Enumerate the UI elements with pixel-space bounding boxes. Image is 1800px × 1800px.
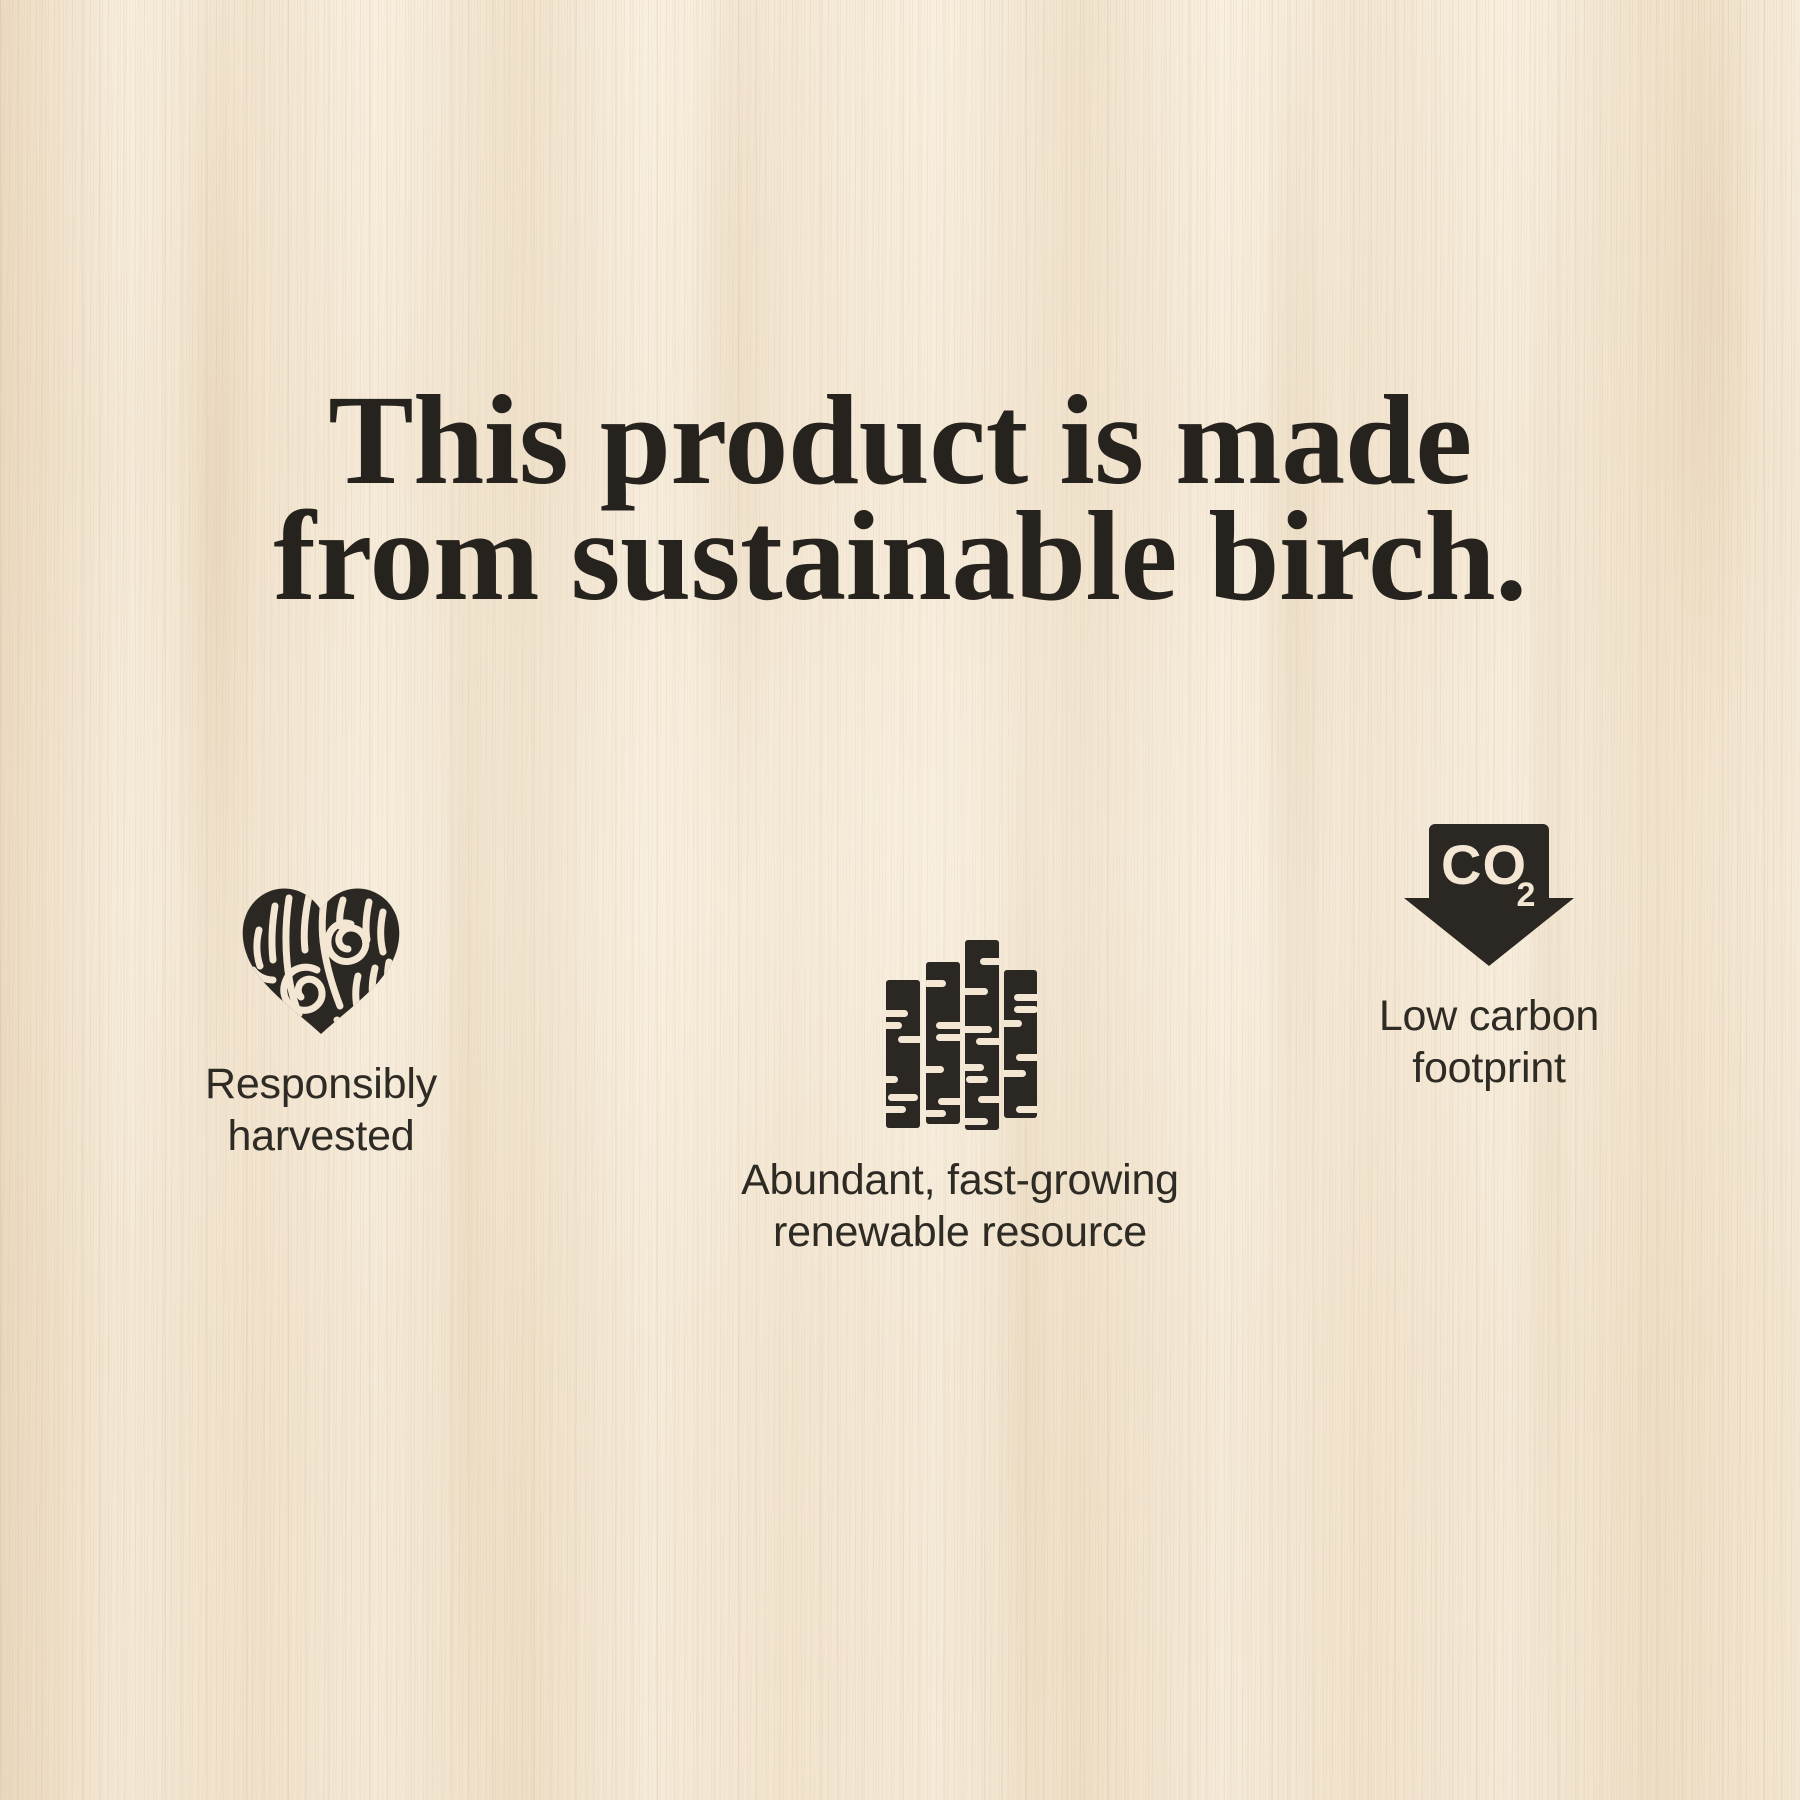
headline: This product is made from sustainable bi…	[0, 382, 1800, 614]
birch-product-panel: This product is made from sustainable bi…	[0, 0, 1800, 1800]
feature-caption: Low carbon footprint	[1254, 990, 1724, 1094]
feature-renewable-resource: Abundant, fast-growing renewable resourc…	[580, 936, 1340, 1258]
birch-trees-icon	[580, 936, 1340, 1132]
feature-row: Responsibly harvested	[60, 780, 1740, 1300]
headline-line-2: from sustainable birch.	[110, 498, 1690, 614]
feature-responsibly-harvested: Responsibly harvested	[86, 876, 556, 1162]
wood-grain-heart-icon	[86, 876, 556, 1036]
feature-low-carbon-footprint: CO 2 Low carbon footprint	[1254, 818, 1724, 1094]
feature-caption: Responsibly harvested	[86, 1058, 556, 1162]
feature-caption: Abundant, fast-growing renewable resourc…	[580, 1154, 1340, 1258]
co2-down-arrow-icon: CO 2	[1254, 818, 1724, 968]
co2-label: CO	[1441, 833, 1527, 896]
panel-content: This product is made from sustainable bi…	[0, 0, 1800, 1800]
co2-subscript: 2	[1517, 876, 1536, 914]
headline-line-1: This product is made	[110, 382, 1690, 498]
